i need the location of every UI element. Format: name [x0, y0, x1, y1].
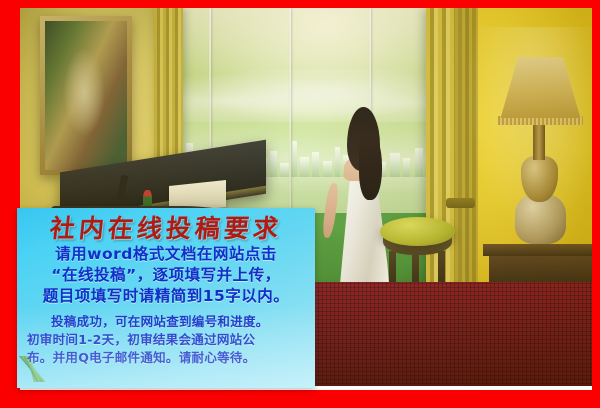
notice-panel: 社内在线投稿要求 请用word格式文档在网站点击 “在线投稿”，逐项填写并上传，… — [17, 208, 315, 388]
clouds — [169, 69, 455, 122]
framed-wall-art — [40, 16, 132, 176]
notice-main-line-3: 题目项填写时请精简到15字以内。 — [23, 286, 309, 307]
notice-main-line-2: “在线投稿”，逐项填写并上传， — [23, 265, 309, 286]
upholstered-stool — [380, 217, 454, 246]
stool-leg — [389, 251, 396, 285]
notice-sub-line-2: 初审时间1-2天，初审结果会通过网站公 — [27, 331, 307, 349]
poster: 社内在线投稿要求 请用word格式文档在网站点击 “在线投稿”，逐项填写并上传，… — [0, 0, 600, 408]
artwork-canvas — [45, 21, 127, 171]
notice-sub-line-3: 布。并用Q电子邮件通知。请耐心等待。 — [27, 349, 307, 367]
side-table-top — [483, 244, 592, 256]
lamp-base — [521, 156, 558, 202]
notice-sub-paragraph: 投稿成功，可在网站查到编号和进度。 初审时间1-2天，初审结果会通过网站公 布。… — [27, 313, 307, 367]
notice-main-line-1: 请用word格式文档在网站点击 — [23, 244, 309, 265]
hair-strand — [359, 132, 382, 200]
red-carpet — [306, 282, 592, 388]
lamp-neck — [533, 122, 546, 160]
notice-title: 社内在线投稿要求 — [17, 216, 315, 241]
notice-sub-line-1: 投稿成功，可在网站查到编号和进度。 — [51, 314, 269, 329]
stool-leg — [438, 251, 445, 285]
